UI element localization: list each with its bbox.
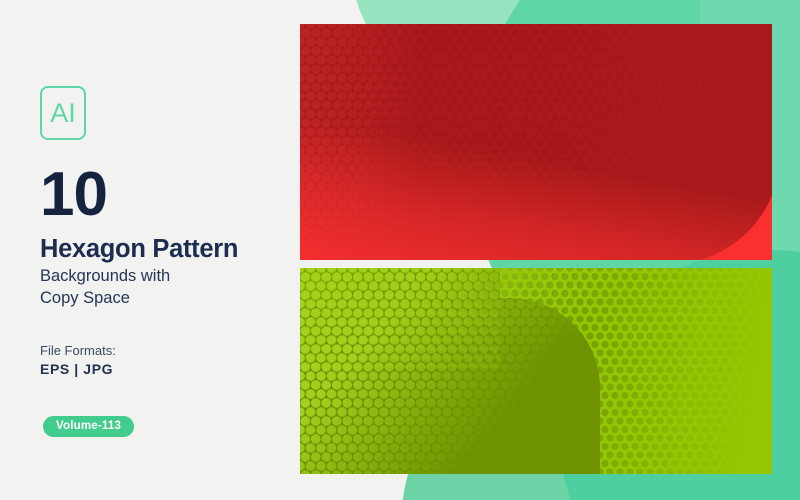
preview-panel-red bbox=[300, 24, 772, 260]
file-formats-label: File Formats: bbox=[40, 343, 116, 358]
item-count: 10 bbox=[40, 164, 107, 226]
adobe-illustrator-badge-icon: AI bbox=[40, 86, 86, 140]
volume-badge: Volume-113 bbox=[43, 416, 134, 437]
green-gradient-overlay bbox=[300, 268, 772, 474]
red-gradient-overlay bbox=[300, 24, 772, 260]
poster-canvas: AI 10 Hexagon Pattern Backgrounds with C… bbox=[0, 0, 800, 500]
info-column: AI 10 Hexagon Pattern Backgrounds with C… bbox=[40, 0, 290, 500]
preview-panel-green bbox=[300, 268, 772, 474]
page-subtitle: Backgrounds with Copy Space bbox=[40, 266, 270, 310]
page-title: Hexagon Pattern bbox=[40, 235, 238, 264]
file-formats-value: EPS | JPG bbox=[40, 361, 113, 377]
